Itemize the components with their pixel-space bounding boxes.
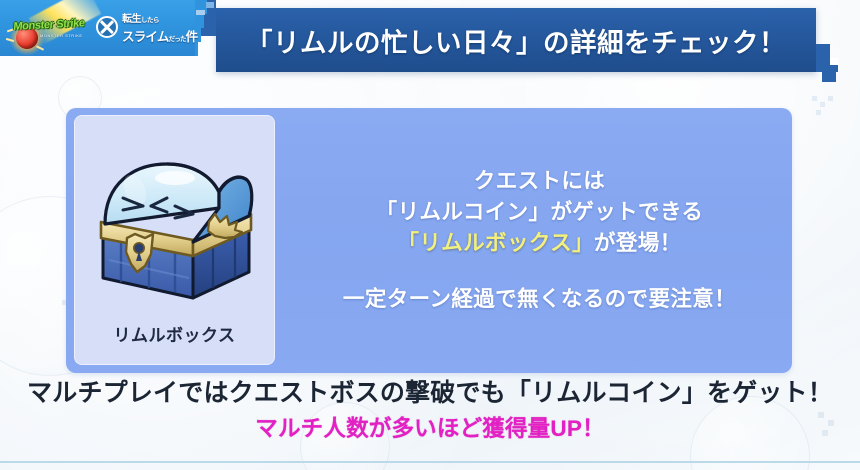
bg-pixel [828, 96, 833, 101]
bottom-line-1: マルチプレイではクエストボスの撃破でも「リムルコイン」をゲット！ [27, 378, 833, 409]
collab-title-line2: スライムだった件 [122, 26, 194, 45]
copy-line-2: 「リムルコイン」がゲットできる [376, 197, 704, 228]
content-panel: リムルボックス クエストには 「リムルコイン」がゲットできる 「リムルボックス」… [66, 108, 792, 373]
chest-svg [89, 156, 264, 306]
panel-copy: クエストには 「リムルコイン」がゲットできる 「リムルボックス」が登場！ 一定タ… [287, 108, 792, 373]
slime-treasure-chest-icon [89, 156, 264, 306]
page-title: 「リムルの忙しい日々」の詳細をチェック！ [216, 8, 816, 72]
bottom-line-2: マルチ人数が多いほど獲得量UP！ [255, 415, 604, 443]
banner-notch-left [196, 10, 205, 15]
copy-line-3-rest: が登場！ [594, 231, 682, 255]
collab-title-line1: 転生したら [122, 10, 194, 25]
cross-circle-icon [96, 16, 118, 38]
brandbar-stair-decoration [195, 0, 221, 56]
monster-strike-logo: Monster Strike MONSTER STRIKE [6, 3, 90, 53]
headline-banner: 「リムルの忙しい日々」の詳細をチェック！ [216, 8, 816, 72]
banner-notch-right [830, 58, 838, 65]
bg-pixel [812, 96, 817, 101]
collab-line2-tail: 件 [186, 30, 198, 44]
copy-line-3-highlight: 「リムルボックス」 [397, 231, 593, 255]
bg-pixel [820, 102, 825, 107]
collab-lockup: 転生したら スライムだった件 [96, 8, 192, 48]
banner-stair-left [206, 2, 214, 8]
slide-root: Monster Strike MONSTER STRIKE 転生したら スライム… [0, 0, 860, 470]
bg-pixel [816, 110, 821, 115]
copy-line-3: 「リムルボックス」が登場！ [397, 228, 681, 259]
banner-stair-right [822, 72, 836, 82]
copy-line-1: クエストには [474, 166, 605, 197]
logo-subtitle: MONSTER STRIKE [40, 33, 83, 38]
collab-line1-main: 転生 [122, 14, 141, 25]
collab-line1-small: したら [141, 17, 159, 24]
collab-line2-main: スライム [122, 30, 169, 44]
copy-line-4: 一定ターン経過で無くなるので要注意！ [343, 284, 736, 315]
bottom-captions: マルチプレイではクエストボスの撃破でも「リムルコイン」をゲット！ マルチ人数が多… [0, 378, 860, 458]
chest-card: リムルボックス [74, 115, 275, 365]
bottom-divider [0, 461, 860, 463]
banner-stair-right [816, 44, 830, 58]
collab-line2-small: だった [169, 36, 186, 43]
chest-label: リムルボックス [75, 321, 274, 346]
collab-title: 転生したら スライムだった件 [122, 10, 194, 45]
